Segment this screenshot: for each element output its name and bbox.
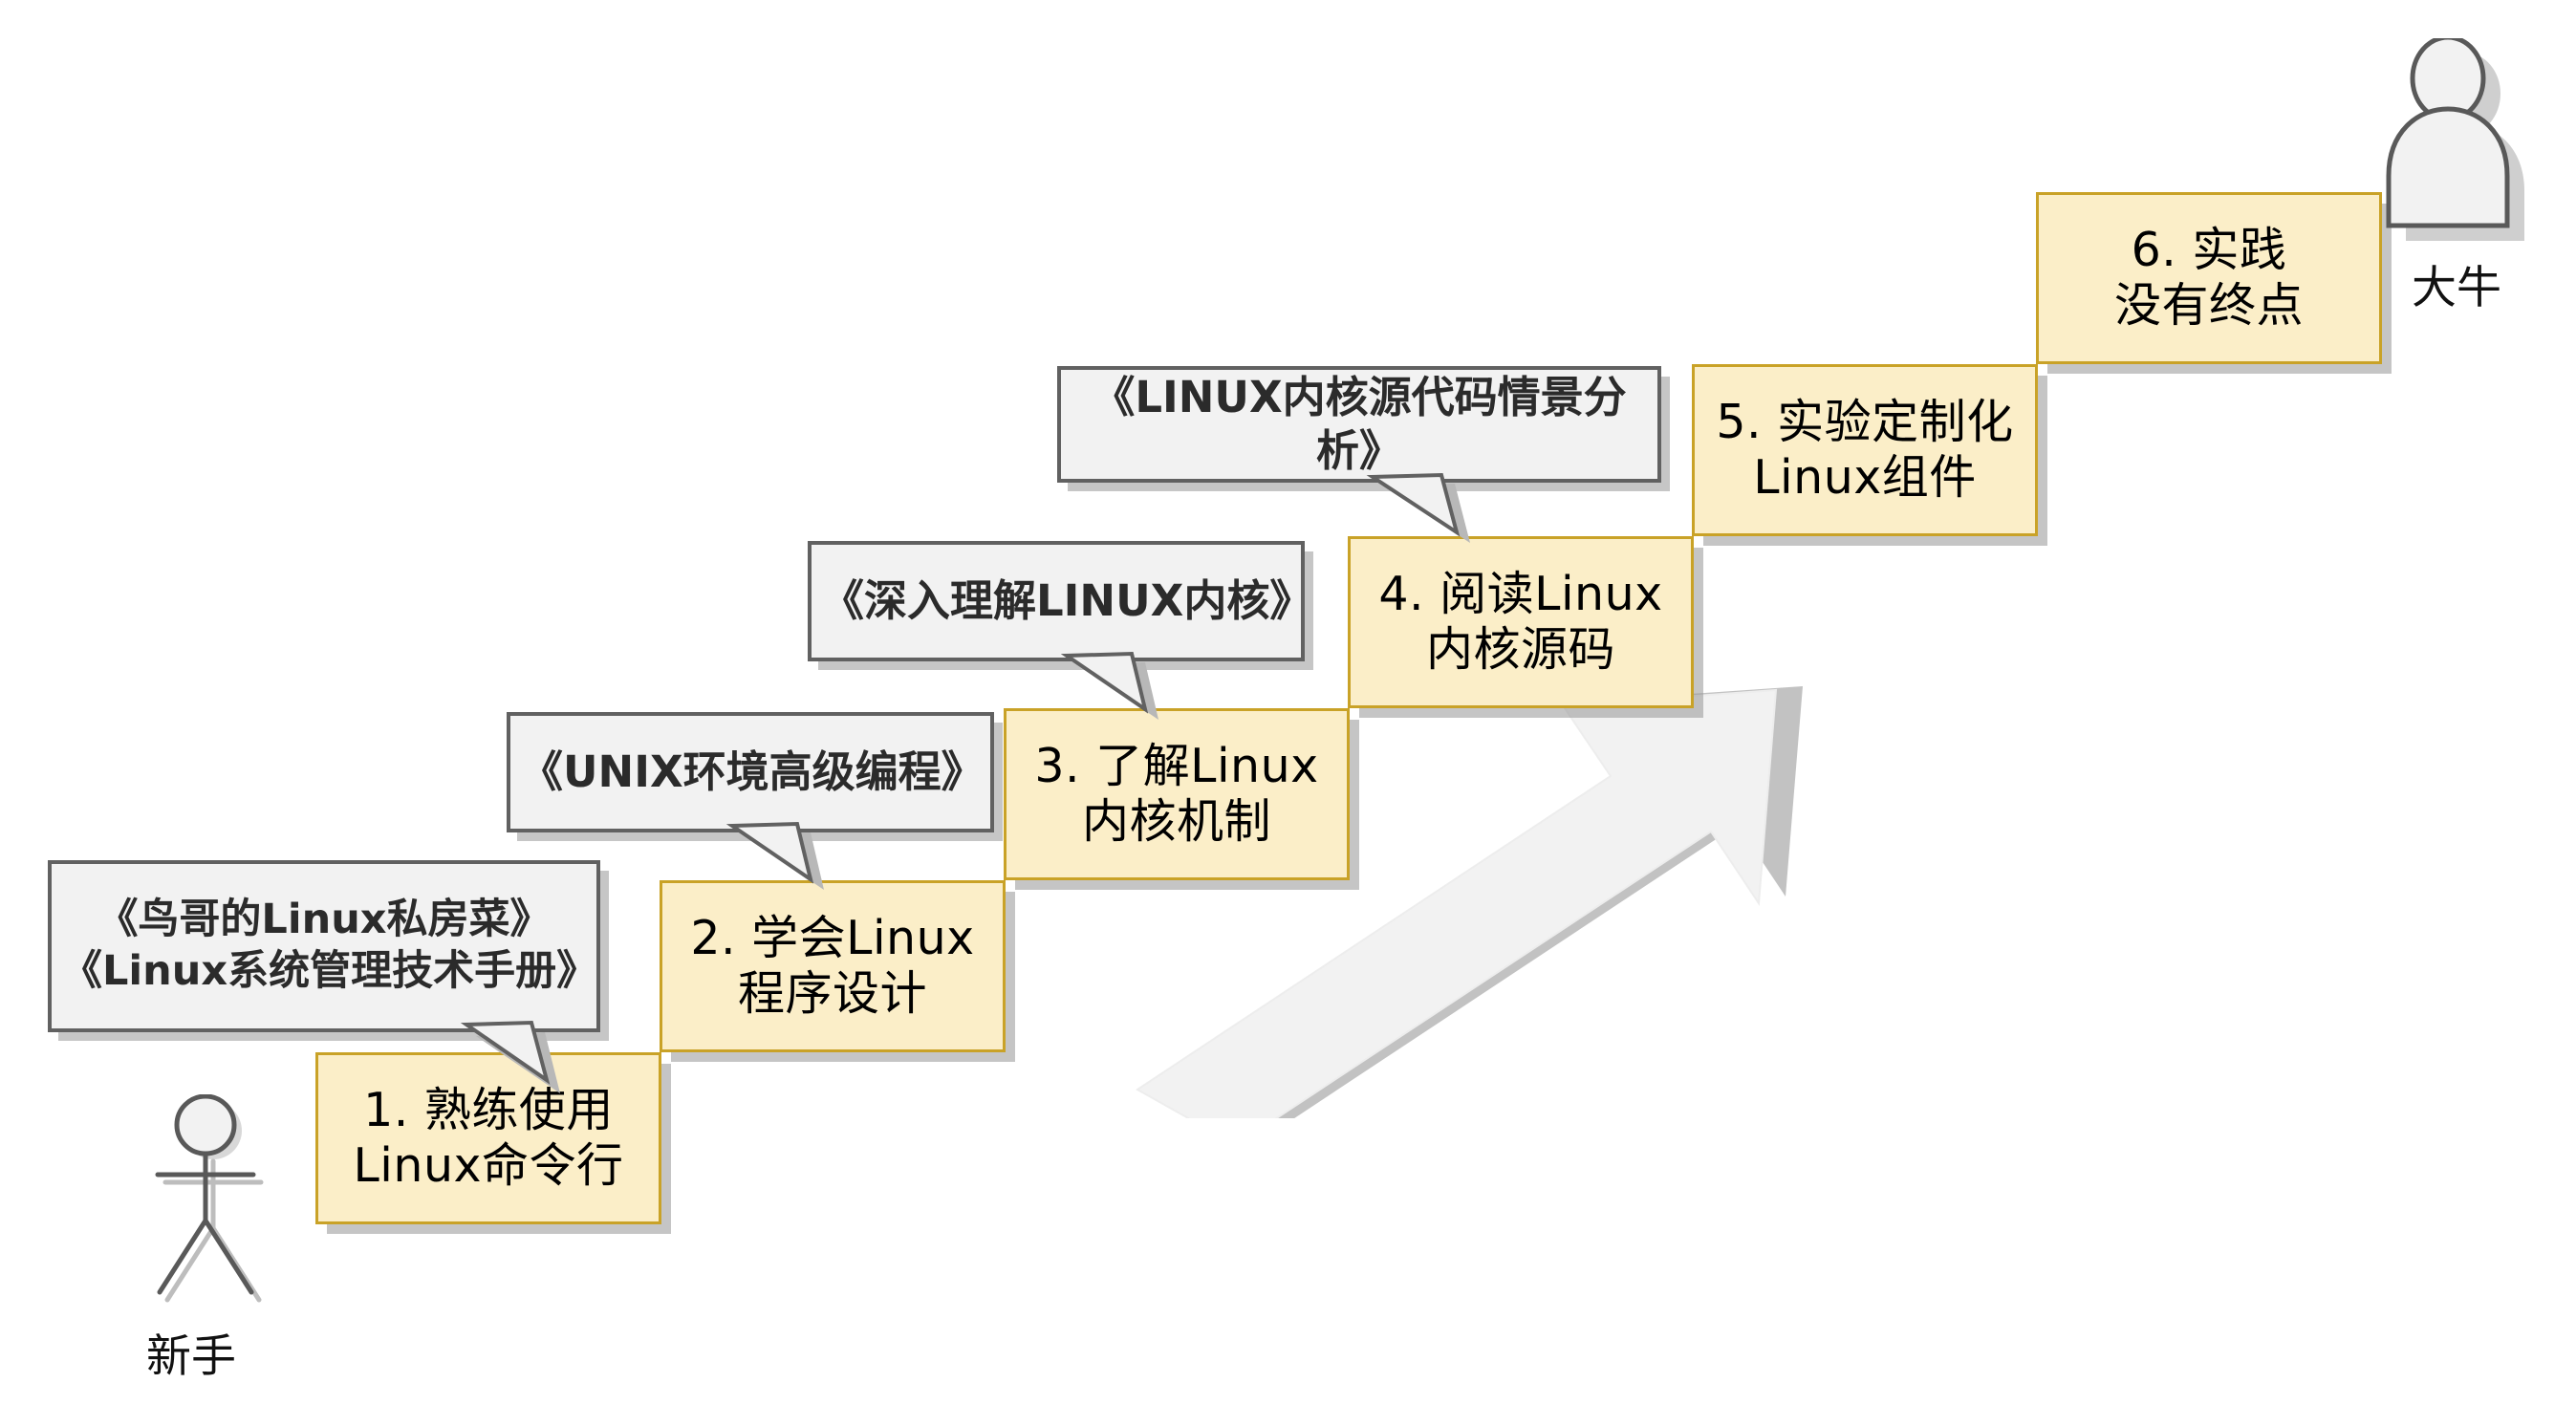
callout-books-3[interactable]: 《深入理解LINUX内核》 [808,541,1305,661]
callout-books-1-label: 《鸟哥的Linux私房菜》 《Linux系统管理技术手册》 [52,895,596,998]
step-box-2-label: 2. 学会Linux 程序设计 [684,911,980,1022]
step-box-2[interactable]: 2. 学会Linux 程序设计 [660,880,1006,1052]
step-box-3-label: 3. 了解Linux 内核机制 [1028,739,1324,850]
actor-label-expert: 大牛 [2361,250,2552,316]
step-box-5[interactable]: 5. 实验定制化 Linux组件 [1692,364,2038,536]
callout-books-4[interactable]: 《LINUX内核源代码情景分析》 [1057,366,1661,483]
callout-books-4-label: 《LINUX内核源代码情景分析》 [1061,371,1657,479]
step-box-4[interactable]: 4. 阅读Linux 内核源码 [1348,536,1694,708]
step-box-1[interactable]: 1. 熟练使用 Linux命令行 [315,1052,661,1224]
step-box-6[interactable]: 6. 实践 没有终点 [2036,192,2382,364]
callout-books-3-label: 《深入理解LINUX内核》 [812,574,1301,628]
callout-books-2-label: 《UNIX环境高级编程》 [510,745,990,799]
step-box-6-label: 6. 实践 没有终点 [2109,223,2309,334]
callout-books-1[interactable]: 《鸟哥的Linux私房菜》 《Linux系统管理技术手册》 [48,860,600,1032]
callout-books-2[interactable]: 《UNIX环境高级编程》 [507,712,994,832]
actor-label-novice: 新手 [105,1319,277,1385]
step-box-4-label: 4. 阅读Linux 内核源码 [1373,567,1668,678]
step-box-1-label: 1. 熟练使用 Linux命令行 [347,1083,629,1194]
person-silhouette-icon [2385,38,2557,248]
step-box-3[interactable]: 3. 了解Linux 内核机制 [1004,708,1350,880]
stick-figure-icon [139,1094,311,1314]
step-box-5-label: 5. 实验定制化 Linux组件 [1710,395,2019,506]
diagram-canvas: 1. 熟练使用 Linux命令行 2. 学会Linux 程序设计 3. 了解Li… [0,0,2576,1426]
